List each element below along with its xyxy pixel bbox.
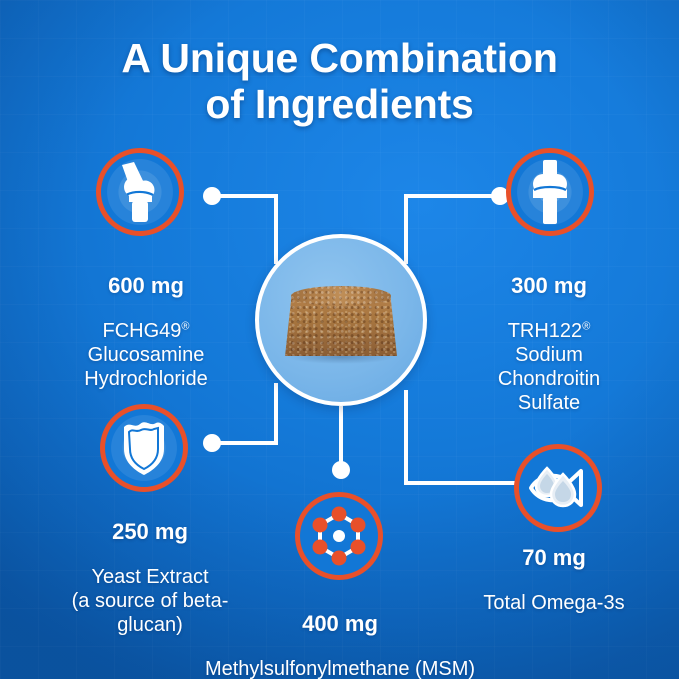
connector-dot (203, 434, 221, 452)
ingredient-icon-yeast[interactable] (100, 404, 188, 492)
ingredient-label-chondroitin: 300 mg TRH122® Sodium Chondroitin Sulfat… (425, 254, 673, 434)
ingredient-icon-glucosamine[interactable] (96, 148, 184, 236)
connector-dot (332, 461, 350, 479)
ingredient-name: TRH122® Sodium Chondroitin Sulfate (425, 319, 673, 415)
ingredient-icon-chondroitin[interactable] (506, 148, 594, 236)
connector-dot (203, 187, 221, 205)
ingredient-amount: 300 mg (425, 273, 673, 299)
ingredient-name: Methylsulfonylmethane (MSM) (130, 657, 550, 679)
straight-bone-joint-icon (528, 160, 572, 224)
ingredient-label-omega: 70 mg Total Omega-3s (438, 526, 670, 634)
chewable-tablet-image (285, 286, 397, 360)
ingredient-amount: 250 mg (24, 519, 276, 545)
ingredient-amount: 600 mg (16, 273, 276, 299)
infographic-canvas: A Unique Combination of Ingredients (0, 0, 679, 679)
ingredient-name: Total Omega-3s (438, 591, 670, 615)
registered-mark: ® (181, 320, 189, 332)
tablet-top-face (291, 286, 391, 306)
registered-mark: ® (582, 320, 590, 332)
ingredient-name: FCHG49® Glucosamine Hydrochloride (16, 319, 276, 391)
ingredient-label-glucosamine: 600 mg FCHG49® Glucosamine Hydrochloride (16, 254, 276, 410)
molecule-icon (305, 502, 373, 570)
center-product-circle (255, 234, 427, 406)
ingredient-icon-omega[interactable] (514, 444, 602, 532)
shield-icon (120, 419, 168, 477)
ingredient-icon-msm[interactable] (295, 492, 383, 580)
ingredient-amount: 70 mg (438, 545, 670, 571)
bent-knee-joint-icon (112, 161, 168, 223)
fish-oil-icon (525, 462, 591, 514)
